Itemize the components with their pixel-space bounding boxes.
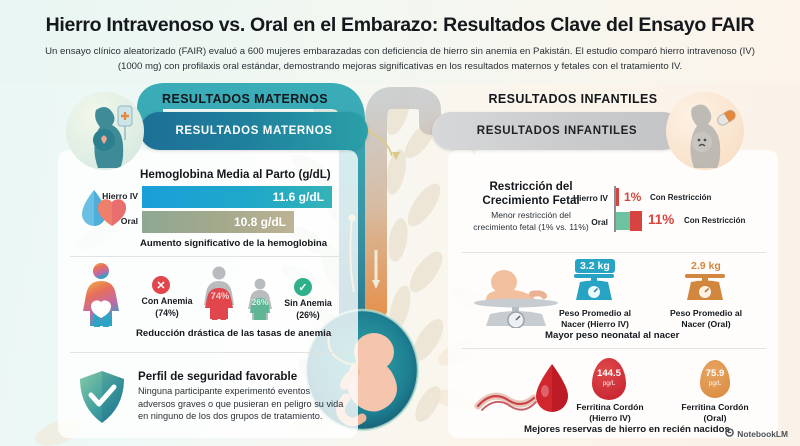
without-anemia-value-text: (26%) [296, 310, 319, 320]
scale-icon-orange [681, 274, 729, 309]
watermark-label: NotebookLM [737, 429, 788, 439]
scale-icon-blue [570, 274, 618, 309]
with-anemia-label-text: Con Anemia [142, 296, 193, 306]
maternal-divider-1 [70, 256, 346, 257]
ferritin-caption-iv-line2: (Hierro IV) [589, 413, 631, 423]
safety-title: Perfil de seguridad favorable [138, 370, 297, 383]
infant-banner: RESULTADOS INFANTILES [432, 112, 682, 150]
fgr-row-label-oral: Oral [560, 217, 608, 227]
maternal-banner: RESULTADOS MATERNOS [140, 112, 368, 150]
ferritin-value-iv: 144.5 [597, 369, 621, 379]
fgr-row-label-iv: Hierro IV [560, 193, 608, 203]
ferritin-caption-oral-line2: (Oral) [704, 413, 727, 423]
fgr-text-iv: Con Restricción [650, 193, 711, 202]
maternal-divider-2 [70, 352, 346, 353]
ferritin-unit-iv: pg/L [603, 379, 616, 389]
infant-column-heading: RESULTADOS INFANTILES [448, 92, 698, 106]
fgr-title-line1: Restricción del [489, 180, 572, 193]
ferritin-caption-iv: Ferritina Cordón (Hierro IV) [552, 402, 668, 424]
birthweight-caption-iv-line2: Nacer (Hierro IV) [561, 319, 629, 329]
hemoglobin-bar-iv: 11.6 g/dL [142, 186, 332, 208]
pregnant-woman-iv-drip-icon [66, 92, 144, 170]
without-anemia-label-text: Sin Anemia [284, 298, 332, 308]
ferritin-value-oral: 75.9 [706, 369, 725, 379]
infant-divider-2 [462, 348, 766, 349]
fgr-value-iv: 1% [624, 190, 641, 204]
shield-check-icon [76, 368, 128, 431]
ferritin-caption-iv-line1: Ferritina Cordón [576, 402, 643, 412]
birthweight-caption-oral-line2: Nacer (Oral) [681, 319, 730, 329]
hemoglobin-axis [140, 185, 142, 235]
with-anemia-x-icon: ✕ [152, 276, 170, 294]
maternal-banner-label: RESULTADOS MATERNOS [175, 125, 332, 137]
anemia-figure-26-pct: 26% [246, 297, 274, 307]
birthweight-caption-oral: Peso Promedio al Nacer (Oral) [656, 308, 756, 330]
maternal-column-heading: RESULTADOS MATERNOS [130, 92, 360, 106]
hemoglobin-value-oral: 10.8 g/dL [234, 215, 286, 229]
birthweight-caption-oral-line1: Peso Promedio al [670, 308, 742, 318]
hemoglobin-footnote: Aumento significativo de la hemoglobina [140, 238, 327, 249]
hemoglobin-title: Hemoglobina Media al Parto (g/dL) [140, 168, 331, 181]
fgr-value-oral: 11% [648, 212, 674, 227]
watermark: NotebookLM [725, 428, 788, 439]
with-anemia-value-text: (74%) [155, 308, 178, 318]
hemoglobin-bar-oral: 10.8 g/dL [142, 211, 294, 233]
infographic-canvas: Hierro Intravenoso vs. Oral en el Embara… [0, 0, 800, 446]
with-anemia-label: Con Anemia (74%) [134, 296, 200, 319]
infant-divider-1 [462, 252, 766, 253]
without-anemia-label: Sin Anemia (26%) [276, 298, 340, 321]
hemoglobin-row-label-oral: Oral [96, 216, 138, 226]
birthweight-caption-iv: Peso Promedio al Nacer (Hierro IV) [545, 308, 645, 330]
without-anemia-check-icon: ✓ [294, 278, 312, 296]
birthweight-chip-oral: 2.9 kg [686, 259, 726, 273]
hemoglobin-row-label-iv: Hierro IV [96, 191, 138, 201]
safety-body: Ninguna participante experimentó eventos… [138, 385, 344, 423]
birthweight-chip-iv: 3.2 kg [575, 259, 615, 273]
infant-banner-label: RESULTADOS INFANTILES [477, 125, 637, 137]
woman-silhouette-heart-icon [72, 262, 130, 333]
fgr-text-oral: Con Restricción [684, 216, 745, 225]
fgr-bar-iv [616, 188, 619, 206]
anemia-footnote: Reducción drástica de las tasas de anemi… [136, 328, 331, 339]
fgr-bar-oral [630, 211, 642, 231]
birthweight-footnote: Mayor peso neonatal al nacer [545, 330, 679, 341]
anemia-figure-74-pct: 74% [203, 290, 237, 301]
ferritin-footnote: Mejores reservas de hierro en recién nac… [524, 424, 730, 435]
hemoglobin-value-iv: 11.6 g/dL [273, 190, 324, 204]
ferritin-caption-oral-line1: Ferritina Cordón [681, 402, 748, 412]
ferritin-unit-oral: pg/L [709, 379, 722, 389]
birthweight-caption-iv-line1: Peso Promedio al [559, 308, 631, 318]
notebooklm-logo-icon [725, 428, 734, 439]
fgr-axis [614, 186, 616, 232]
ferritin-caption-oral: Ferritina Cordón (Oral) [660, 402, 770, 424]
pregnant-woman-pill-icon [666, 92, 744, 170]
